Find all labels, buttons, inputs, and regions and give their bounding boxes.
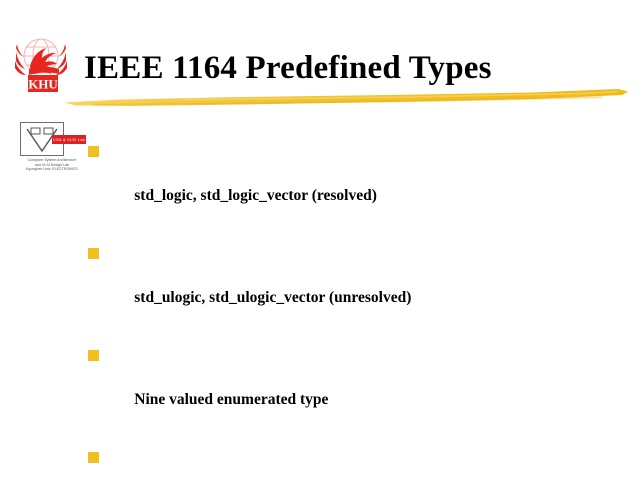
list-item: Nine valued enumerated type <box>88 345 608 433</box>
list-item: std_logic, std_logic_vector (resolved) <box>88 141 608 229</box>
bullet-square-icon <box>88 146 99 157</box>
title-underline-brushstroke <box>62 86 632 112</box>
list-item: std_ulogic, std_ulogic_vector (unresolve… <box>88 243 608 331</box>
list-item-label: std_ulogic, std_ulogic_vector (unresolve… <box>134 289 411 306</box>
bullet-list: std_logic, std_logic_vector (resolved) s… <box>88 141 608 480</box>
lab-logo: CSA & VLSI Lab Computer System Architect… <box>16 122 88 178</box>
lab-logo-caption: Computer System Architecture and VLSI De… <box>16 158 88 172</box>
bullet-square-icon <box>88 248 99 259</box>
page-title: IEEE 1164 Predefined Types <box>84 48 624 88</box>
lab-logo-tag: CSA & VLSI Lab <box>52 135 86 144</box>
slide-canvas: KHU CSA & VLSI Lab Computer System Archi… <box>0 0 640 480</box>
list-item-label: std_logic, std_logic_vector (resolved) <box>134 187 377 204</box>
khu-badge-label: KHU <box>28 77 58 92</box>
list-item-label: Nine valued enumerated type <box>134 391 328 408</box>
bullet-square-icon <box>88 452 99 463</box>
bullet-square-icon <box>88 350 99 361</box>
list-item: Used as replacements for bit, bit_vector <box>88 447 608 480</box>
